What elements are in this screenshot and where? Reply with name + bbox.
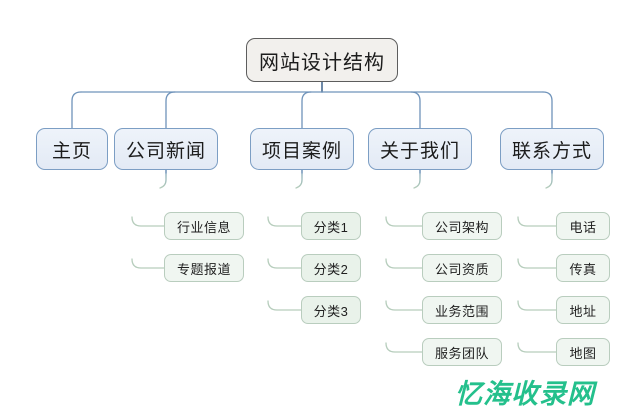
node-root[interactable]: 网站设计结构 xyxy=(246,38,398,82)
diagram-canvas: 网站设计结构主页公司新闻行业信息专题报道项目案例分类1分类2分类3关于我们公司架… xyxy=(0,0,643,407)
node-level2-0[interactable]: 主页 xyxy=(36,128,108,170)
node-level3-4-1[interactable]: 传真 xyxy=(556,254,610,282)
node-level3-2-0[interactable]: 分类1 xyxy=(301,212,361,240)
node-level2-2[interactable]: 项目案例 xyxy=(250,128,354,170)
node-level3-2-2[interactable]: 分类3 xyxy=(301,296,361,324)
node-level3-4-2[interactable]: 地址 xyxy=(556,296,610,324)
node-level3-4-0[interactable]: 电话 xyxy=(556,212,610,240)
node-level2-1[interactable]: 公司新闻 xyxy=(114,128,218,170)
site-watermark: 忆海收录网 xyxy=(455,372,595,411)
node-level3-1-0[interactable]: 行业信息 xyxy=(164,212,244,240)
node-level3-3-0[interactable]: 公司架构 xyxy=(422,212,502,240)
node-level3-2-1[interactable]: 分类2 xyxy=(301,254,361,282)
node-level3-3-3[interactable]: 服务团队 xyxy=(422,338,502,366)
node-level3-4-3[interactable]: 地图 xyxy=(556,338,610,366)
node-level2-3[interactable]: 关于我们 xyxy=(368,128,472,170)
node-level3-3-2[interactable]: 业务范围 xyxy=(422,296,502,324)
node-level3-3-1[interactable]: 公司资质 xyxy=(422,254,502,282)
node-level2-4[interactable]: 联系方式 xyxy=(500,128,604,170)
node-level3-1-1[interactable]: 专题报道 xyxy=(164,254,244,282)
